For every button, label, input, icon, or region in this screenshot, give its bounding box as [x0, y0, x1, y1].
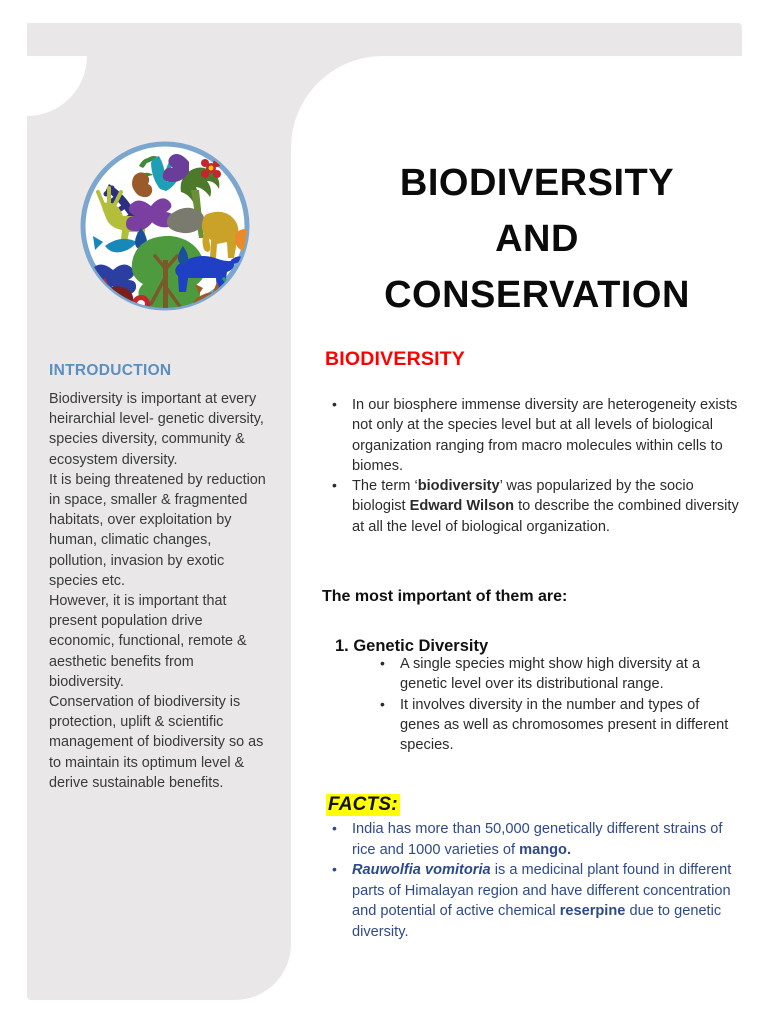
biodiversity-logo: [79, 118, 251, 334]
list-item: India has more than 50,000 genetically d…: [322, 819, 750, 860]
sidebar-intro-block: INTRODUCTION Biodiversity is important a…: [49, 362, 271, 793]
intro-bullet-list: In our biosphere immense diversity are h…: [322, 395, 750, 537]
list-item: A single species might show high diversi…: [370, 654, 742, 695]
facts-bullet-block: India has more than 50,000 genetically d…: [322, 819, 750, 943]
genetic-diversity-bullet-block: A single species might show high diversi…: [370, 654, 742, 755]
sidebar-top-left-notch: [27, 56, 87, 116]
section-heading-biodiversity: BIODIVERSITY: [325, 348, 465, 371]
facts-heading: FACTS:: [326, 794, 400, 816]
genetic-diversity-bullet-list: A single species might show high diversi…: [370, 654, 742, 755]
lead-line: The most important of them are:: [322, 588, 567, 606]
facts-bullet-list: India has more than 50,000 genetically d…: [322, 819, 750, 943]
sidebar-heading: INTRODUCTION: [49, 362, 271, 380]
list-item: In our biosphere immense diversity are h…: [322, 395, 750, 476]
list-item: Rauwolfia vomitoria is a medicinal plant…: [322, 860, 750, 942]
intro-bullet-block: In our biosphere immense diversity are h…: [322, 395, 750, 537]
sidebar-inner-corner: [291, 56, 383, 148]
list-item: It involves diversity in the number and …: [370, 695, 742, 756]
list-item: The term ‘biodiversity’ was popularized …: [322, 476, 750, 537]
sidebar-body-text: Biodiversity is important at every heira…: [49, 389, 271, 793]
page-title: BIODIVERSITY AND CONSERVATION: [322, 155, 752, 323]
biodiversity-globe-in-hand-icon: [79, 118, 251, 334]
